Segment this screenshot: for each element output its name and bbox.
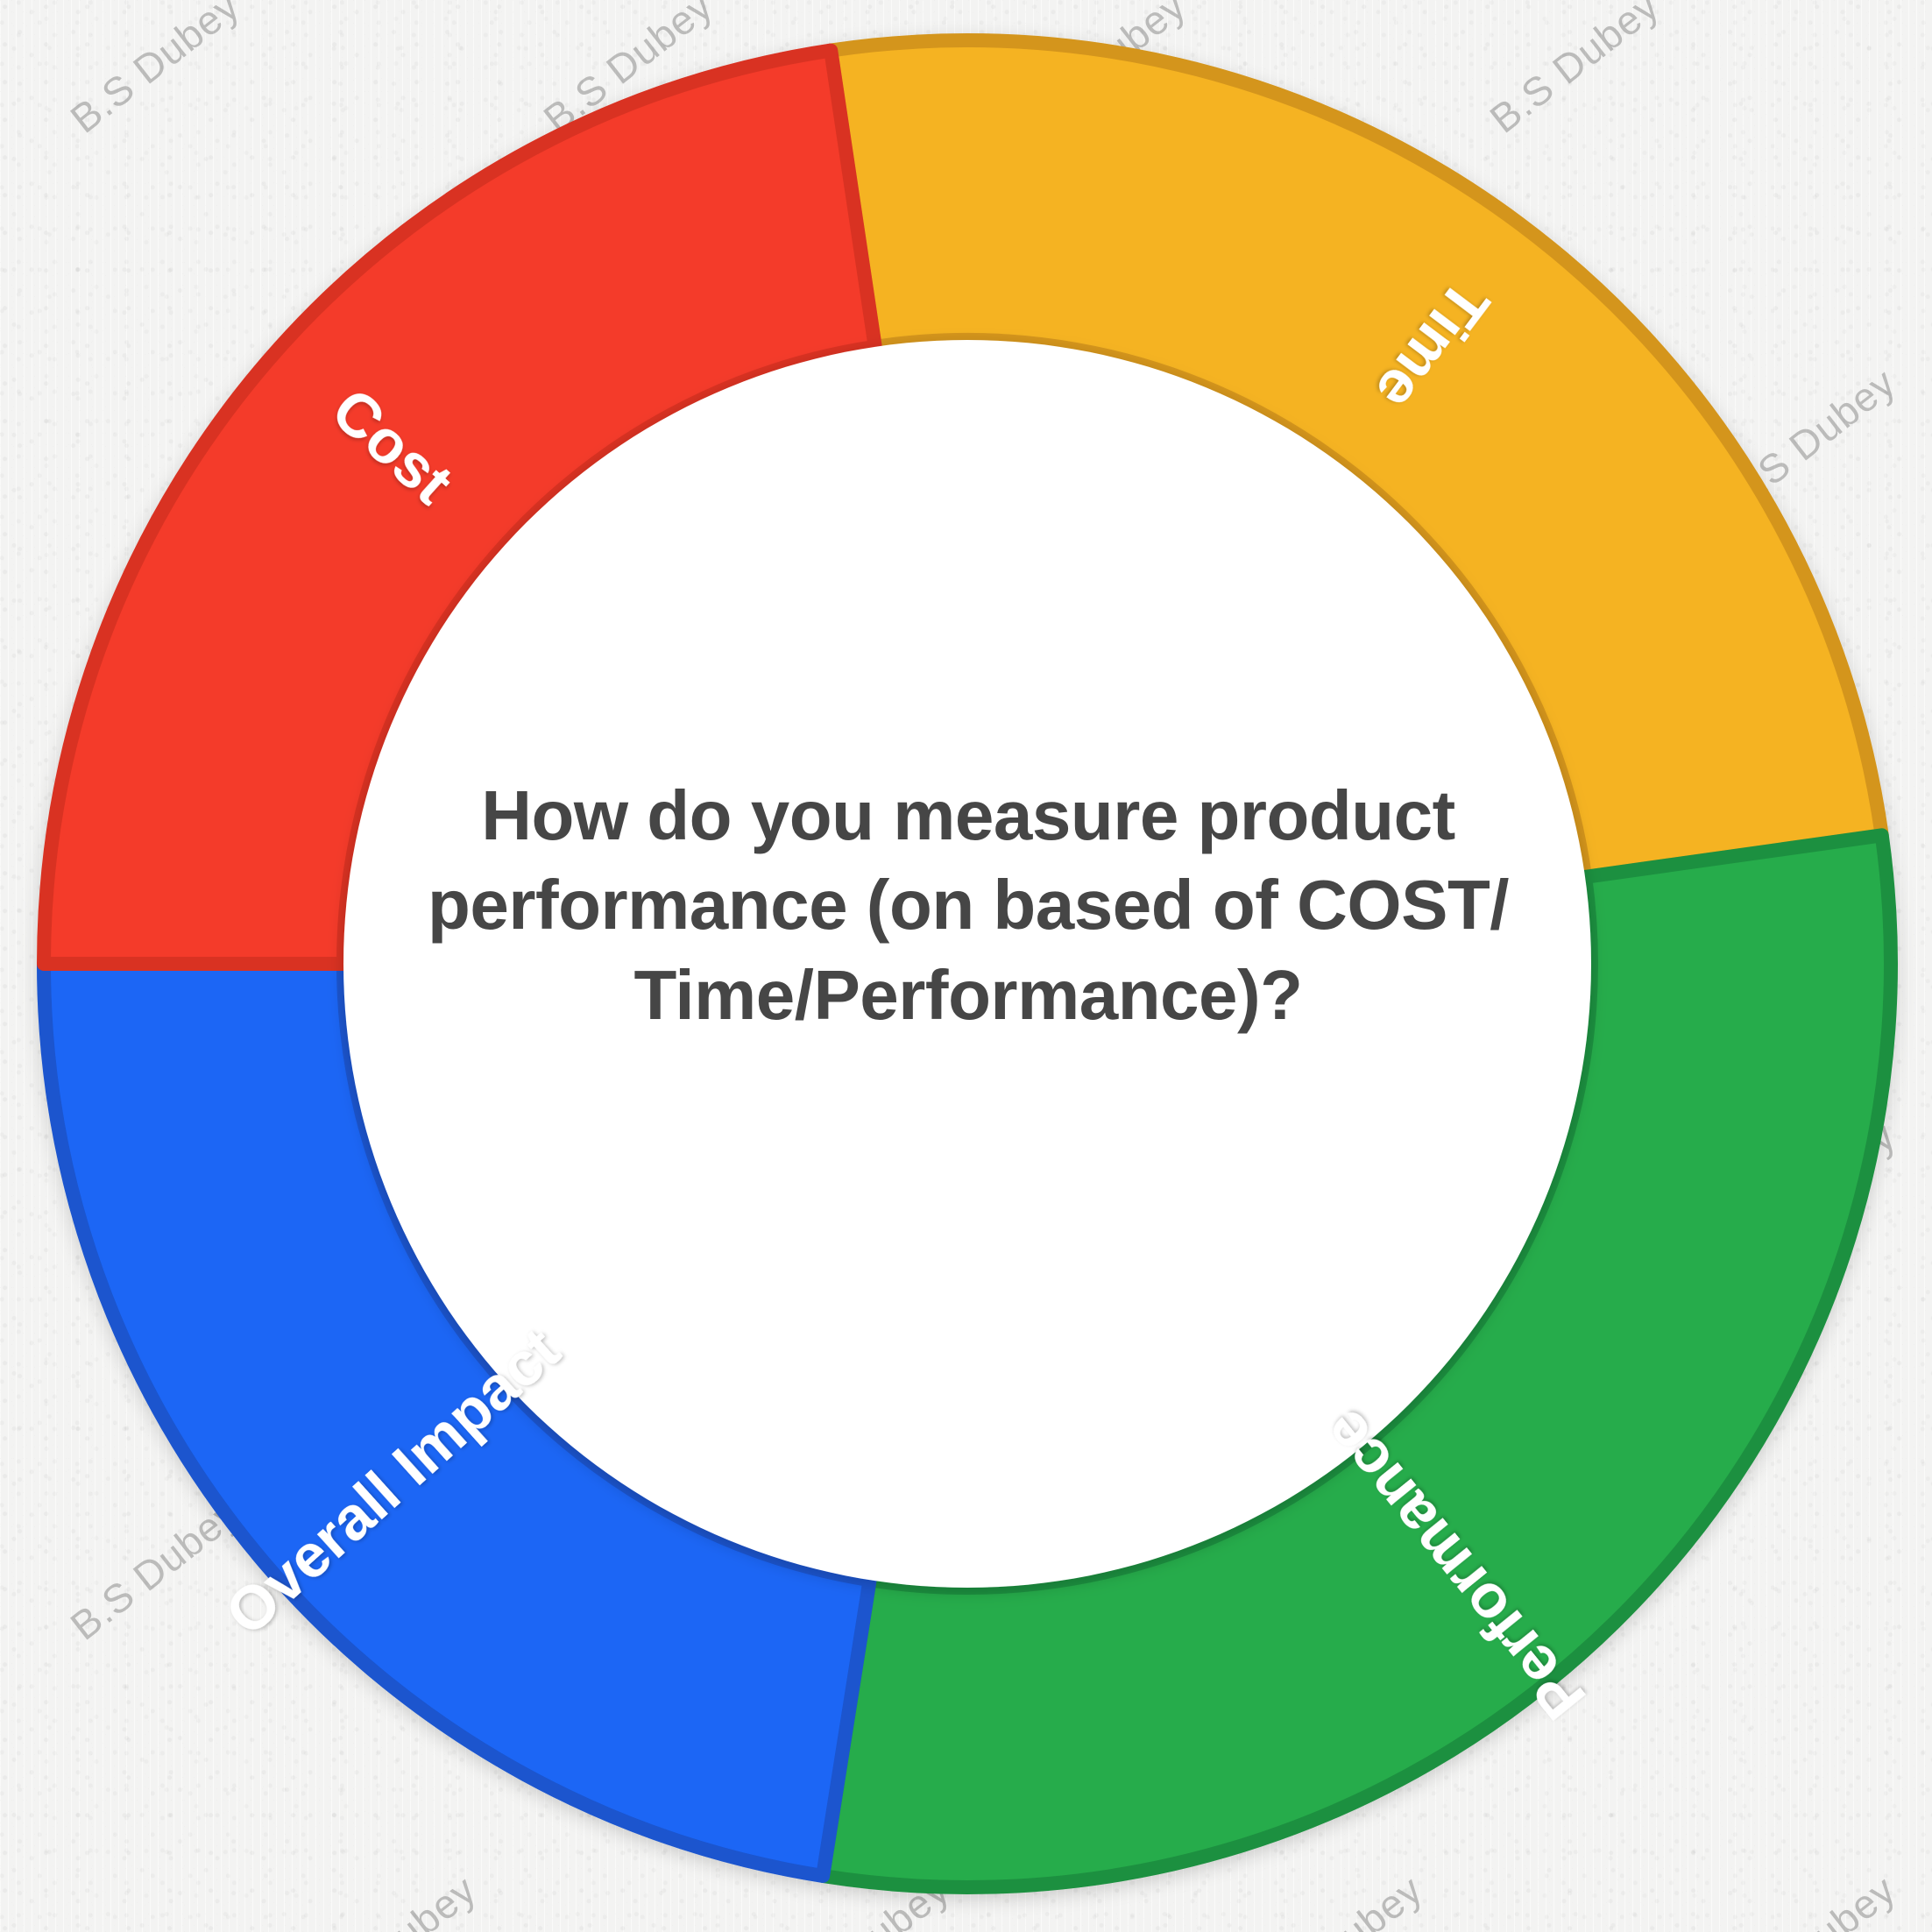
- center-question-line-1: How do you measure product: [481, 776, 1455, 854]
- center-question-text: How do you measure product performance (…: [377, 771, 1560, 1040]
- center-question-line-3: Time/Performance)?: [633, 956, 1302, 1034]
- center-question-line-2: performance (on based of COST/: [428, 866, 1509, 944]
